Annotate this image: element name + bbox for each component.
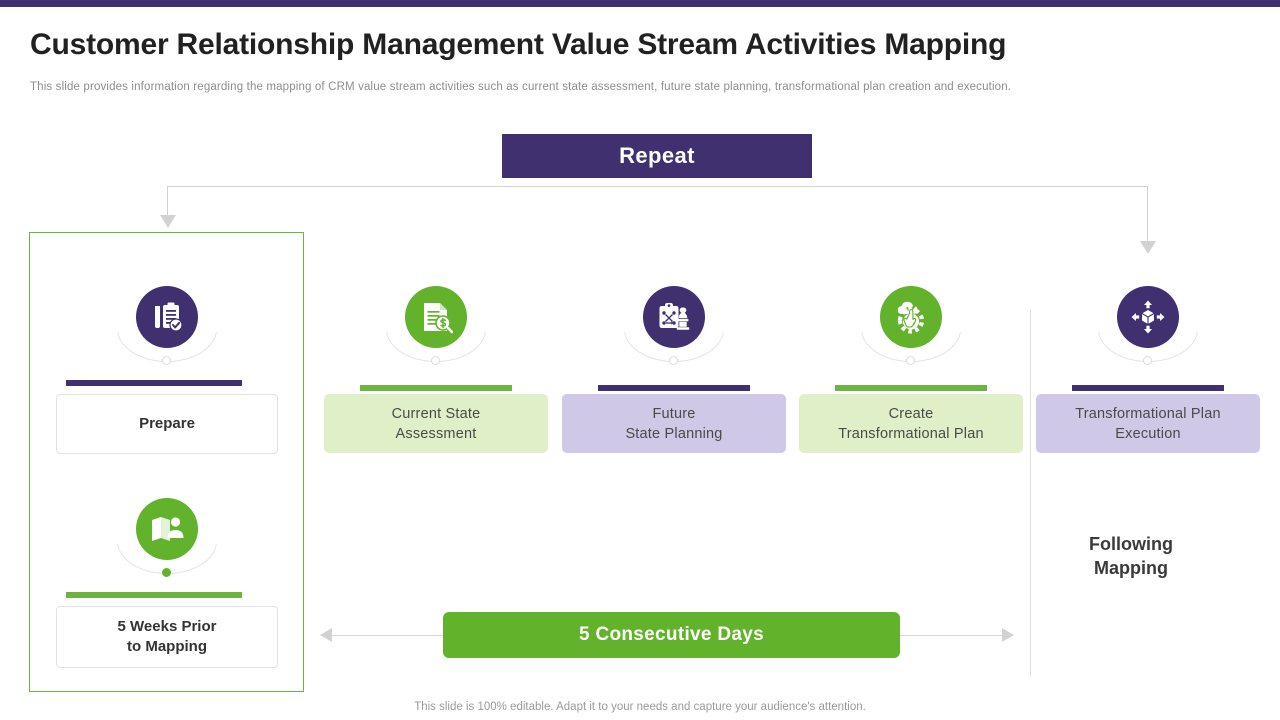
future-state-accent-bar <box>598 385 750 391</box>
stage-label-current-state: Current State Assessment <box>392 404 481 444</box>
repeat-arrow-left-icon <box>160 215 176 228</box>
weeks-prior-card-label: 5 Weeks Prior to Mapping <box>118 617 217 658</box>
create-plan-icon-badge <box>849 286 973 378</box>
page-subtitle: This slide provides information regardin… <box>30 81 1220 93</box>
repeat-connector-right-stem <box>1147 186 1148 242</box>
cube-expand-arrows-icon <box>1117 286 1179 348</box>
footer-note: This slide is 100% editable. Adapt it to… <box>0 701 1280 713</box>
following-mapping-label: Following Mapping <box>1042 533 1220 581</box>
badge-dot <box>431 356 440 365</box>
stage-tile-plan-execution: Transformational Plan Execution <box>1036 394 1260 453</box>
weeks-prior-accent-bar <box>66 592 242 598</box>
create-plan-accent-bar <box>835 385 987 391</box>
duration-arrow-right-icon <box>1002 628 1014 642</box>
stage-tile-create-plan: Create Transformational Plan <box>799 394 1023 453</box>
badge-dot <box>162 356 171 365</box>
stage-label-plan-execution: Transformational Plan Execution <box>1075 404 1221 444</box>
weeks-prior-icon-badge <box>105 498 229 590</box>
repeat-connector-left-stem <box>167 186 168 216</box>
badge-dot <box>1143 356 1152 365</box>
badge-dot <box>162 568 171 577</box>
prepare-card-label: Prepare <box>139 414 195 434</box>
duration-pill-label: 5 Consecutive Days <box>579 624 764 646</box>
prepare-card: Prepare <box>56 394 278 454</box>
duration-pill: 5 Consecutive Days <box>443 612 900 658</box>
clipboard-check-pen-icon <box>136 286 198 348</box>
badge-dot <box>906 356 915 365</box>
repeat-connector-horizontal <box>167 186 1148 187</box>
current-state-accent-bar <box>360 385 512 391</box>
top-accent-bar <box>0 0 1280 7</box>
future-state-icon-badge <box>612 286 736 378</box>
current-state-icon-badge <box>374 286 498 378</box>
prepare-icon-badge <box>105 286 229 378</box>
stage-label-future-state: Future State Planning <box>625 404 722 444</box>
weeks-prior-card: 5 Weeks Prior to Mapping <box>56 606 278 668</box>
stage-tile-current-state: Current State Assessment <box>324 394 548 453</box>
stage-label-create-plan: Create Transformational Plan <box>838 404 984 444</box>
plan-execution-accent-bar <box>1072 385 1224 391</box>
document-magnifier-dollar-icon <box>405 286 467 348</box>
cloud-gear-hand-check-icon <box>880 286 942 348</box>
strategy-clipboard-chess-icon <box>643 286 705 348</box>
badge-dot <box>669 356 678 365</box>
stage-tile-future-state: Future State Planning <box>562 394 786 453</box>
plan-execution-icon-badge <box>1086 286 1210 378</box>
repeat-banner-label: Repeat <box>619 143 695 169</box>
repeat-banner: Repeat <box>502 134 812 178</box>
section-divider <box>1030 310 1031 676</box>
map-person-icon <box>136 498 198 560</box>
prepare-accent-bar <box>66 380 242 386</box>
page-title: Customer Relationship Management Value S… <box>30 28 1210 62</box>
duration-arrow-left-icon <box>320 628 332 642</box>
repeat-arrow-right-icon <box>1140 241 1156 254</box>
